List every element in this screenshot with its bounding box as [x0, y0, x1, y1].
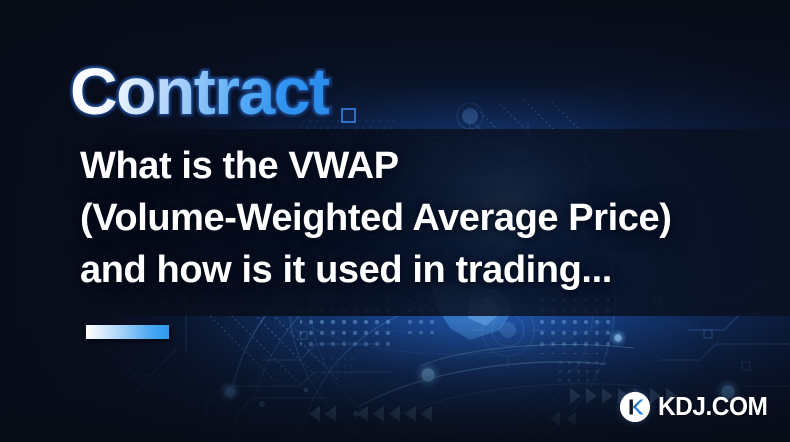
headline-line-2: (Volume-Weighted Average Price)	[80, 192, 760, 244]
headline-line-3: and how is it used in trading...	[80, 244, 760, 296]
kdj-k-mark-icon	[620, 392, 650, 422]
page-title: What is the VWAP (Volume-Weighted Averag…	[80, 140, 760, 296]
banner-card: Contract Contract What is the VWAP (Volu…	[0, 0, 790, 442]
category-wordmark-label: Contract	[70, 54, 329, 128]
site-logo-text: KDJ.COM	[658, 391, 767, 422]
headline-line-1: What is the VWAP	[80, 140, 760, 192]
site-logo[interactable]: KDJ.COM	[620, 391, 774, 422]
accent-underline-bar	[86, 325, 169, 339]
category-wordmark-dot	[341, 108, 356, 123]
category-wordmark: Contract Contract	[70, 58, 329, 124]
